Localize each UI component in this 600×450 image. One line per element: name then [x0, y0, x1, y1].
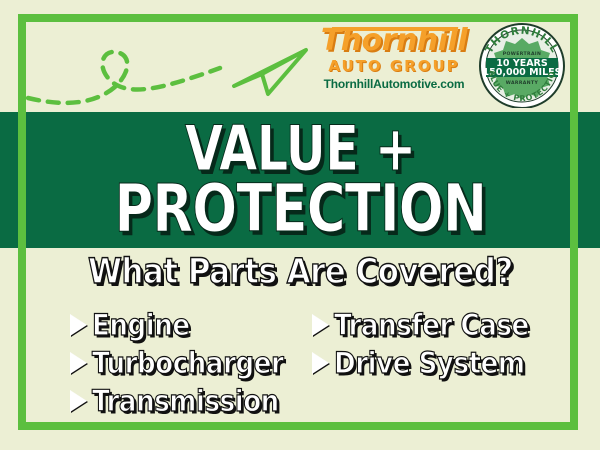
triangle-bullet-icon: [312, 314, 329, 336]
list-item: Transmission: [70, 382, 305, 420]
list-item: Drive System: [312, 344, 550, 382]
triangle-bullet-icon: [70, 352, 87, 374]
subtitle-text: What Parts Are Covered?: [88, 252, 513, 292]
headline-line-2: PROTECTION: [114, 179, 486, 240]
subtitle: What Parts Are Covered?: [0, 252, 600, 292]
headline-line-1: VALUE +: [185, 120, 416, 177]
triangle-bullet-icon: [312, 352, 329, 374]
headline: VALUE + PROTECTION: [0, 114, 600, 246]
triangle-bullet-icon: [70, 314, 87, 336]
triangle-bullet-icon: [70, 390, 87, 412]
part-label: Turbocharger: [92, 346, 283, 380]
paper-plane-arrow-icon: [228, 38, 310, 100]
logo-overbar: [332, 27, 458, 31]
list-item: Transfer Case: [312, 306, 550, 344]
logo-website: ThornhillAutomotive.com: [310, 77, 478, 92]
advertisement-banner: Thornhill AUTO GROUP ThornhillAutomotive…: [0, 0, 600, 450]
warranty-badge: 10 YEARS 150,000 MILES POWERTRAIN WARRAN…: [478, 22, 566, 108]
part-label: Transfer Case: [334, 308, 529, 342]
logo-sub-name: AUTO GROUP: [310, 58, 478, 75]
part-label: Engine: [92, 308, 190, 342]
list-item: Turbocharger: [70, 344, 305, 382]
thornhill-logo: Thornhill AUTO GROUP ThornhillAutomotive…: [310, 24, 478, 104]
parts-column-left: Engine Turbocharger Transmission: [70, 306, 305, 420]
badge-powertrain: POWERTRAIN: [503, 51, 542, 57]
part-label: Transmission: [92, 384, 279, 418]
parts-column-right: Transfer Case Drive System: [312, 306, 550, 382]
list-item: Engine: [70, 306, 305, 344]
covered-parts-list: Engine Turbocharger Transmission Transfe…: [34, 306, 566, 424]
badge-warranty: WARRANTY: [506, 80, 539, 86]
part-label: Drive System: [334, 346, 525, 380]
